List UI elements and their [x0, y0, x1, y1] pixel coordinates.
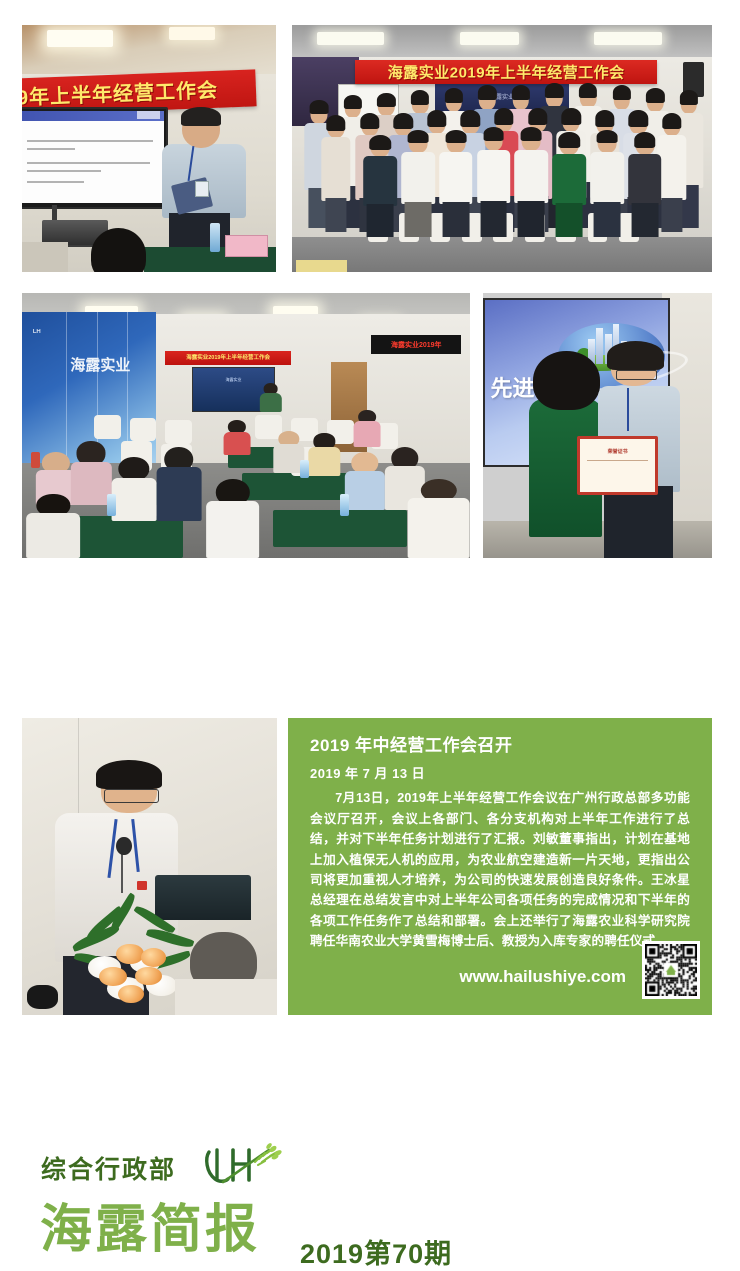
attendee: [309, 433, 340, 475]
speaker-hair: [96, 760, 162, 790]
photo-conference-hall: 海露实业 LH 海露实业2019年上半年经营工作会 海露实业 海露实业2019年: [22, 293, 470, 558]
water-bottle: [340, 494, 349, 515]
attendee: [206, 479, 260, 559]
chair: [94, 415, 121, 439]
glasses-icon: [616, 370, 657, 380]
screen-text: 先进: [490, 371, 534, 403]
person: [477, 131, 511, 237]
ceiling-lamp-icon: [169, 27, 215, 39]
person: [552, 136, 586, 237]
water-bottle: [107, 494, 116, 515]
table: [273, 510, 407, 547]
microphone-icon: [116, 837, 131, 855]
article-title: 2019 年中经营工作会召开: [310, 736, 690, 756]
attendee: [224, 420, 251, 454]
speaker-hair: [181, 107, 222, 127]
wall-text: 海露实业: [70, 354, 130, 375]
page-title: 海露简报: [40, 1204, 260, 1256]
article-panel: 2019 年中经营工作会召开 2019 年 7 月 13 日 7月13日，201…: [288, 718, 712, 1015]
attendee: [407, 479, 470, 559]
led-text: 海露实业2019年: [391, 340, 442, 350]
certificate: 荣誉证书: [577, 436, 659, 495]
people-row-front-seated: [292, 25, 712, 272]
article-date: 2019 年 7 月 13 日: [310, 763, 690, 782]
chair: [130, 418, 157, 442]
person: [590, 134, 624, 238]
banner-text: 9年上半年经营工作会: [22, 74, 218, 111]
certificate-text: 荣誉证书: [608, 448, 628, 455]
name-card: [225, 235, 268, 257]
issue-number: 2019第70期: [300, 1232, 452, 1271]
person: [439, 134, 473, 238]
website-url[interactable]: www.hailushiye.com: [459, 967, 626, 987]
glasses-icon: [104, 789, 160, 803]
person: [628, 136, 662, 237]
photo-podium-speaker: [22, 718, 277, 1015]
photo-meeting-speaker: 9年上半年经营工作会: [22, 25, 276, 272]
newsletter-page: 9年上半年经营工作会: [0, 0, 740, 1047]
article-footer: www.hailushiye.com: [288, 939, 712, 1001]
attendee: [354, 410, 381, 447]
banner-text: 海露实业2019年上半年经营工作会: [186, 353, 270, 361]
water-bottle: [210, 223, 220, 253]
person: [515, 131, 549, 237]
attendee: [345, 452, 385, 510]
article-body: 7月13日，2019年上半年经营工作会议在广州行政总部多功能会议厅召开，会议上各…: [310, 788, 690, 951]
lanyard: [627, 388, 629, 430]
masthead: 综合行政部: [0, 570, 740, 710]
cup: [31, 452, 40, 468]
presenter-hair: [607, 341, 664, 370]
attendee: [26, 494, 80, 558]
chair: [165, 420, 192, 444]
attendee: [112, 457, 157, 521]
awardee-hair: [533, 351, 599, 409]
screen-text: 海露实业: [226, 377, 242, 383]
water-bottle: [300, 460, 309, 479]
person: [401, 134, 435, 238]
party-pin-icon: [137, 881, 147, 890]
department-label: 综合行政部: [41, 1150, 176, 1186]
foreground: [22, 242, 68, 272]
projection-screen: [22, 107, 168, 210]
photo-group-photo: 海露实业 海露实业2019年上半年经营工作会: [292, 25, 712, 272]
badge: [195, 181, 210, 198]
presenter: [259, 383, 281, 412]
photo-award-ceremony: 先进 荣誉证书: [483, 293, 712, 558]
microphone-icon: [27, 985, 58, 1009]
microphone-stem: [121, 852, 123, 894]
person: [363, 139, 397, 238]
led-display: 海露实业2019年: [371, 335, 461, 354]
audience-body: [175, 979, 277, 1015]
red-banner: 海露实业2019年上半年经营工作会: [165, 351, 290, 364]
hailu-lh-leaf-logo: [203, 1142, 299, 1190]
qr-code[interactable]: [642, 941, 700, 999]
attendee: [156, 447, 201, 521]
ceiling-lamp-icon: [47, 30, 113, 47]
presenter-legs: [604, 486, 673, 558]
